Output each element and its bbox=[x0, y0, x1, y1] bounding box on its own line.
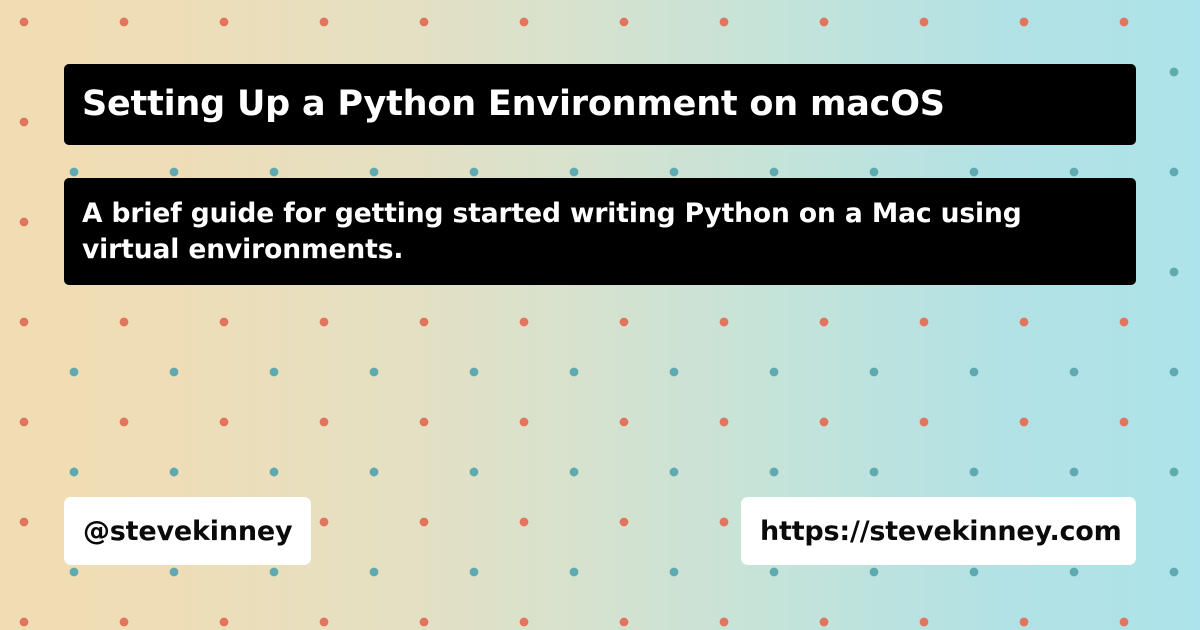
title-banner: Setting Up a Python Environment on macOS bbox=[64, 64, 1136, 145]
site-url-badge: https://stevekinney.com bbox=[741, 497, 1136, 565]
site-url-label: https://stevekinney.com bbox=[760, 516, 1122, 547]
subtitle-banner: A brief guide for getting started writin… bbox=[64, 178, 1136, 285]
social-share-card: Setting Up a Python Environment on macOS… bbox=[0, 0, 1200, 630]
page-title: Setting Up a Python Environment on macOS bbox=[82, 86, 945, 123]
page-subtitle: A brief guide for getting started writin… bbox=[82, 196, 1118, 266]
author-handle-label: @stevekinney bbox=[83, 516, 292, 547]
author-handle-badge: @stevekinney bbox=[64, 497, 311, 565]
